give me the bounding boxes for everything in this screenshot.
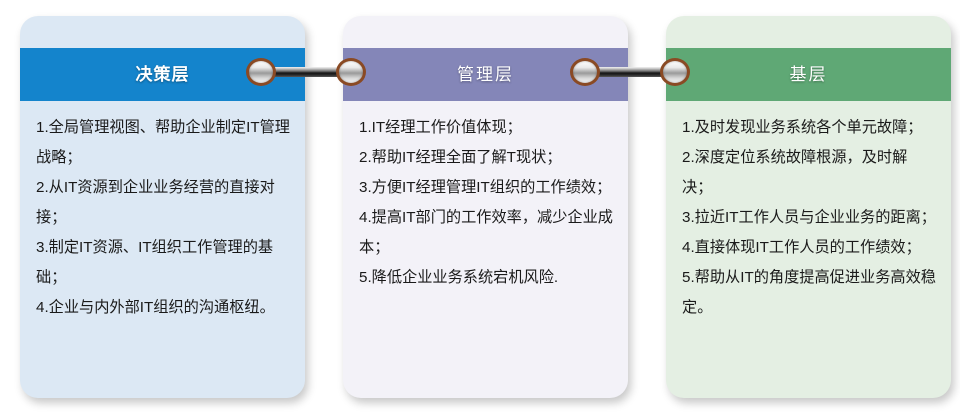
card-decision-layer-title: 决策层 (136, 66, 190, 83)
card-management-layer-title: 管理层 (457, 66, 514, 83)
card-decision-layer-body: 1.全局管理视图、帮助企业制定IT管理战略； 2.从IT资源到企业业务经营的直接… (20, 101, 305, 333)
list-item: 1.及时发现业务系统各个单元故障； (682, 113, 937, 143)
list-item: 4.提高IT部门的工作效率，减少企业成本； (359, 203, 614, 263)
list-item: 2.从IT资源到企业业务经营的直接对接； (36, 173, 291, 233)
card-management-layer-header: 管理层 (343, 48, 628, 101)
list-item: 5.降低企业业务系统宕机风险. (359, 263, 614, 293)
card-management-layer[interactable]: 管理层 1.IT经理工作价值体现； 2.帮助IT经理全面了解T现状； 3.方便I… (343, 16, 628, 398)
list-item: 1.全局管理视图、帮助企业制定IT管理战略； (36, 113, 291, 173)
list-item: 3.拉近IT工作人员与企业业务的距离； (682, 203, 937, 233)
list-item: 2.帮助IT经理全面了解T现状； (359, 143, 614, 173)
card-decision-layer[interactable]: 决策层 1.全局管理视图、帮助企业制定IT管理战略； 2.从IT资源到企业业务经… (20, 16, 305, 398)
list-item: 2.深度定位系统故障根源，及时解决； (682, 143, 937, 203)
list-item: 3.制定IT资源、IT组织工作管理的基础； (36, 233, 291, 293)
card-base-layer-body: 1.及时发现业务系统各个单元故障； 2.深度定位系统故障根源，及时解决； 3.拉… (666, 101, 951, 333)
card-decision-layer-header: 决策层 (20, 48, 305, 101)
list-item: 4.企业与内外部IT组织的沟通枢纽。 (36, 293, 291, 323)
list-item: 1.IT经理工作价值体现； (359, 113, 614, 143)
list-item: 4.直接体现IT工作人员的工作绩效； (682, 233, 937, 263)
list-item: 5.帮助从IT的角度提高促进业务高效稳定。 (682, 263, 937, 323)
card-base-layer[interactable]: 基层 1.及时发现业务系统各个单元故障； 2.深度定位系统故障根源，及时解决； … (666, 16, 951, 398)
list-item: 3.方便IT经理管理IT组织的工作绩效； (359, 173, 614, 203)
card-base-layer-header: 基层 (666, 48, 951, 101)
card-base-layer-title: 基层 (790, 66, 828, 83)
card-management-layer-body: 1.IT经理工作价值体现； 2.帮助IT经理全面了解T现状； 3.方便IT经理管… (343, 101, 628, 303)
diagram-canvas: 决策层 1.全局管理视图、帮助企业制定IT管理战略； 2.从IT资源到企业业务经… (0, 0, 960, 416)
